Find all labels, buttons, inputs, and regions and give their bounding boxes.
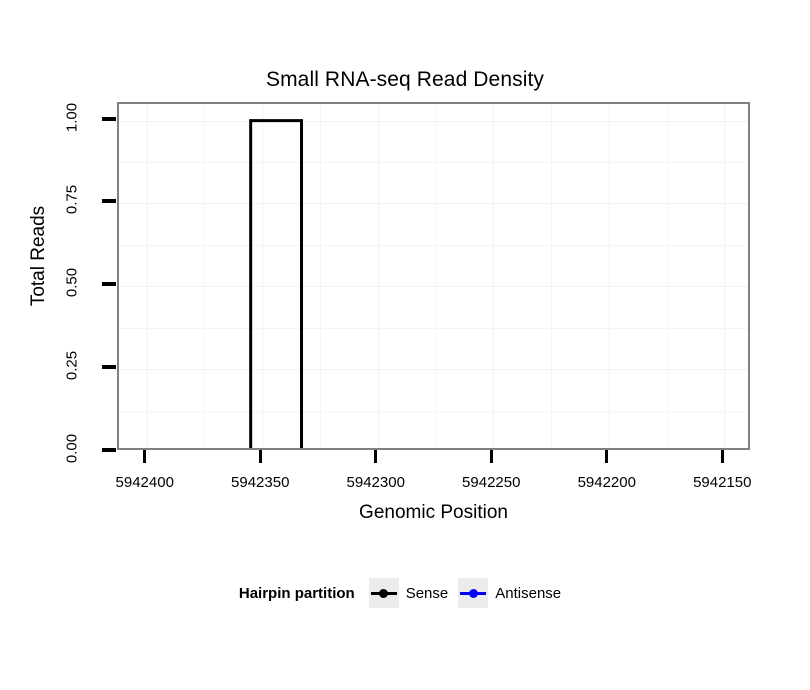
x-tick-label: 5942250 [431, 474, 551, 491]
legend-key-dot [469, 589, 478, 598]
x-tick [605, 450, 608, 463]
x-tick [259, 450, 262, 463]
x-tick-label: 5942300 [316, 474, 436, 491]
plot-panel-inner [119, 104, 748, 448]
legend-key-dot [379, 589, 388, 598]
x-tick-label: 5942350 [200, 474, 320, 491]
y-tick [102, 199, 116, 203]
y-tick-label: 0.75 [64, 176, 81, 224]
y-tick [102, 365, 116, 369]
chart-figure: Small RNA-seq Read Density Total Reads 5… [0, 0, 810, 690]
legend-item-sense[interactable]: Sense [369, 578, 449, 608]
legend-key-sense [369, 578, 399, 608]
legend-items: SenseAntisense [369, 578, 571, 608]
x-axis-title: Genomic Position [117, 502, 750, 524]
chart-title: Small RNA-seq Read Density [0, 68, 810, 92]
y-tick-label: 0.50 [64, 259, 81, 307]
y-tick-label: 0.25 [64, 342, 81, 390]
legend-item-antisense[interactable]: Antisense [458, 578, 561, 608]
x-tick [143, 450, 146, 463]
y-tick [102, 117, 116, 121]
x-tick [374, 450, 377, 463]
x-tick [490, 450, 493, 463]
x-tick [721, 450, 724, 463]
y-tick-label: 1.00 [64, 93, 81, 141]
y-tick [102, 282, 116, 286]
chart-legend: Hairpin partition SenseAntisense [0, 578, 810, 608]
series-group [144, 121, 722, 448]
plot-panel [117, 102, 750, 450]
series-line-sense [144, 121, 722, 448]
x-tick-label: 5942200 [547, 474, 667, 491]
x-tick-label: 5942400 [85, 474, 205, 491]
y-tick-label: 0.00 [64, 425, 81, 473]
legend-title: Hairpin partition [239, 585, 355, 602]
legend-key-antisense [458, 578, 488, 608]
y-tick [102, 448, 116, 452]
y-axis-title: Total Reads [28, 176, 50, 336]
legend-label: Sense [406, 585, 449, 602]
x-tick-label: 5942150 [662, 474, 782, 491]
legend-label: Antisense [495, 585, 561, 602]
data-layer [119, 104, 748, 448]
